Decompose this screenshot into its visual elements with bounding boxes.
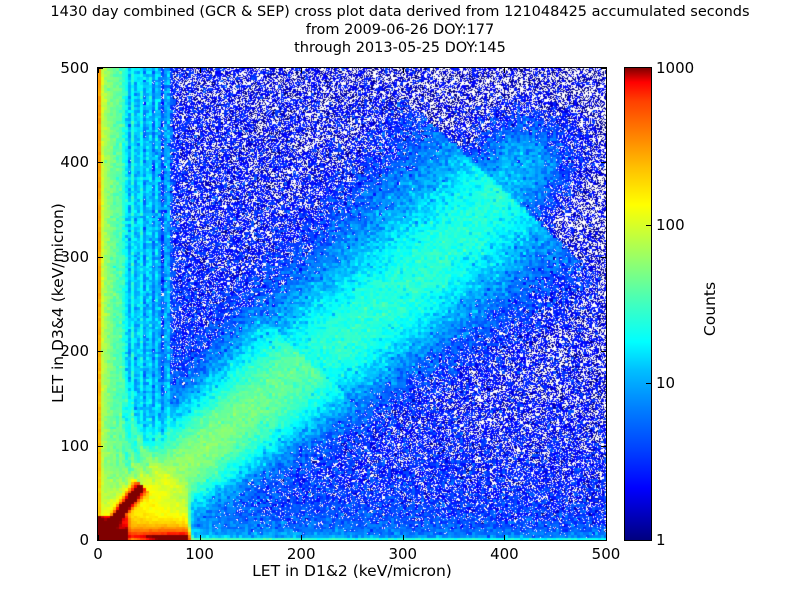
x-tick-label: 400 (464, 545, 544, 563)
y-tick-mark (98, 446, 103, 447)
x-tick-mark-top (403, 68, 404, 73)
x-tick-mark-top (301, 68, 302, 73)
y-tick-mark-right (601, 446, 606, 447)
colorbar-tick-label: 100 (656, 216, 685, 234)
y-tick-mark-right (601, 68, 606, 69)
y-tick-mark-right (601, 540, 606, 541)
y-tick-mark-right (601, 257, 606, 258)
y-tick-label: 500 (19, 59, 89, 77)
x-tick-mark-top (200, 68, 201, 73)
colorbar-label: Counts (701, 199, 719, 419)
x-tick-mark-top (606, 68, 607, 73)
x-tick-label: 200 (261, 545, 341, 563)
plot-area[interactable] (97, 67, 607, 541)
y-tick-label: 100 (19, 437, 89, 455)
figure-title-line-3: through 2013-05-25 DOY:145 (0, 40, 800, 56)
y-tick-mark-right (601, 162, 606, 163)
x-tick-mark (606, 535, 607, 540)
figure-title-line-1: 1430 day combined (GCR & SEP) cross plot… (0, 4, 800, 20)
colorbar-tick-label: 1 (656, 531, 666, 549)
colorbar-tick-mark (646, 383, 651, 384)
colorbar-tick-label: 10 (656, 374, 675, 392)
heatmap-canvas (98, 68, 606, 540)
x-tick-label: 300 (363, 545, 443, 563)
y-tick-mark (98, 351, 103, 352)
colorbar (624, 67, 652, 541)
x-tick-mark (200, 535, 201, 540)
x-tick-label: 100 (160, 545, 240, 563)
y-axis-label: LET in D3&4 (keV/micron) (49, 173, 67, 433)
x-tick-label: 500 (566, 545, 646, 563)
colorbar-tick-mark (646, 225, 651, 226)
y-tick-mark (98, 540, 103, 541)
y-tick-mark (98, 162, 103, 163)
y-tick-label: 0 (19, 531, 89, 549)
y-tick-mark-right (601, 351, 606, 352)
y-tick-label: 400 (19, 153, 89, 171)
x-tick-mark (301, 535, 302, 540)
x-tick-mark (403, 535, 404, 540)
y-tick-mark (98, 68, 103, 69)
figure-title-line-2: from 2009-06-26 DOY:177 (0, 22, 800, 38)
x-tick-mark (504, 535, 505, 540)
figure: 1430 day combined (GCR & SEP) cross plot… (0, 0, 800, 600)
y-tick-mark (98, 257, 103, 258)
x-tick-mark-top (504, 68, 505, 73)
x-axis-label: LET in D1&2 (keV/micron) (97, 562, 607, 580)
colorbar-tick-label: 1000 (656, 59, 694, 77)
